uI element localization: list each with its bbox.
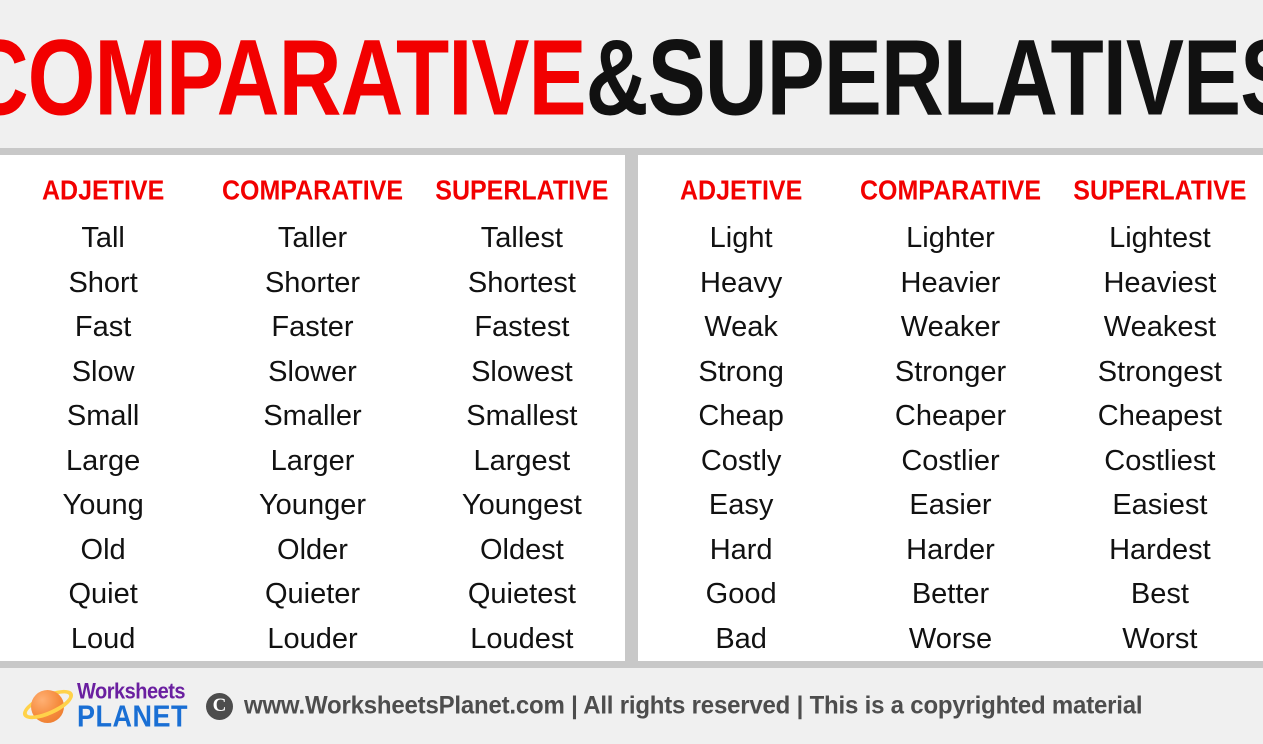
cell-superlative: Costliest — [1057, 439, 1263, 484]
left-header-superlative: SUPERLATIVE — [419, 175, 625, 219]
cell-comparative: Quieter — [206, 572, 419, 617]
cell-superlative: Shortest — [419, 261, 625, 306]
cell-adjective: Fast — [0, 305, 206, 350]
cell-superlative: Fastest — [419, 305, 625, 350]
cell-comparative: Worse — [844, 617, 1057, 662]
table-row: FastFasterFastest — [0, 305, 625, 350]
cell-superlative: Oldest — [419, 528, 625, 573]
planet-icon — [22, 683, 74, 729]
cell-superlative: Lightest — [1057, 216, 1263, 261]
table-row: LoudLouderLoudest — [0, 617, 625, 662]
cell-superlative: Best — [1057, 572, 1263, 617]
cell-superlative: Tallest — [419, 216, 625, 261]
cell-adjective: Strong — [638, 350, 844, 395]
cell-comparative: Louder — [206, 617, 419, 662]
table-row: YoungYoungerYoungest — [0, 483, 625, 528]
cell-adjective: Quiet — [0, 572, 206, 617]
cell-comparative: Heavier — [844, 261, 1057, 306]
page-header: COMPARATIVE&SUPERLATIVES — [0, 0, 1263, 148]
table-row: HardHarderHardest — [638, 528, 1263, 573]
worksheet-page: COMPARATIVE&SUPERLATIVES ADJETIVE COMPAR… — [0, 0, 1263, 744]
page-footer: Worksheets PLANET C www.WorksheetsPlanet… — [0, 668, 1263, 744]
cell-comparative: Younger — [206, 483, 419, 528]
left-panel: ADJETIVE COMPARATIVE SUPERLATIVE TallTal… — [0, 155, 625, 661]
cell-comparative: Older — [206, 528, 419, 573]
table-row: LargeLargerLargest — [0, 439, 625, 484]
logo-text-planet: PLANET — [77, 703, 188, 731]
title-superlatives: SUPERLATIVES — [648, 17, 1263, 138]
table-row: QuietQuieterQuietest — [0, 572, 625, 617]
cell-adjective: Young — [0, 483, 206, 528]
cell-comparative: Shorter — [206, 261, 419, 306]
cell-adjective: Cheap — [638, 394, 844, 439]
table-row: ShortShorterShortest — [0, 261, 625, 306]
cell-comparative: Taller — [206, 216, 419, 261]
cell-superlative: Heaviest — [1057, 261, 1263, 306]
left-header-row: ADJETIVE COMPARATIVE SUPERLATIVE — [0, 177, 625, 216]
cell-superlative: Largest — [419, 439, 625, 484]
right-word-table: ADJETIVE COMPARATIVE SUPERLATIVE LightLi… — [638, 177, 1263, 661]
right-header-adjective: ADJETIVE — [638, 175, 844, 219]
cell-superlative: Easiest — [1057, 483, 1263, 528]
footer-credit-text: www.WorksheetsPlanet.com | All rights re… — [244, 691, 1142, 720]
cell-comparative: Slower — [206, 350, 419, 395]
cell-superlative: Cheapest — [1057, 394, 1263, 439]
cell-superlative: Hardest — [1057, 528, 1263, 573]
cell-adjective: Costly — [638, 439, 844, 484]
table-row: SlowSlowerSlowest — [0, 350, 625, 395]
cell-adjective: Old — [0, 528, 206, 573]
cell-comparative: Weaker — [844, 305, 1057, 350]
table-row: EasyEasierEasiest — [638, 483, 1263, 528]
right-header-row: ADJETIVE COMPARATIVE SUPERLATIVE — [638, 177, 1263, 216]
cell-comparative: Harder — [844, 528, 1057, 573]
table-row: GoodBetterBest — [638, 572, 1263, 617]
worksheets-planet-logo[interactable]: Worksheets PLANET — [22, 683, 188, 729]
cell-comparative: Cheaper — [844, 394, 1057, 439]
right-table-head: ADJETIVE COMPARATIVE SUPERLATIVE — [638, 177, 1263, 216]
cell-comparative: Lighter — [844, 216, 1057, 261]
cell-superlative: Weakest — [1057, 305, 1263, 350]
cell-comparative: Larger — [206, 439, 419, 484]
cell-adjective: Easy — [638, 483, 844, 528]
title-ampersand: & — [586, 17, 648, 138]
logo-wordmark: Worksheets PLANET — [77, 684, 188, 727]
tables-area: ADJETIVE COMPARATIVE SUPERLATIVE TallTal… — [0, 155, 1263, 661]
table-row: OldOlderOldest — [0, 528, 625, 573]
panel-divider — [625, 155, 638, 661]
cell-comparative: Faster — [206, 305, 419, 350]
cell-adjective: Tall — [0, 216, 206, 261]
page-title: COMPARATIVE&SUPERLATIVES — [0, 25, 1263, 130]
table-row: HeavyHeavierHeaviest — [638, 261, 1263, 306]
cell-adjective: Hard — [638, 528, 844, 573]
left-word-table: ADJETIVE COMPARATIVE SUPERLATIVE TallTal… — [0, 177, 625, 661]
table-row: LightLighterLightest — [638, 216, 1263, 261]
table-row: WeakWeakerWeakest — [638, 305, 1263, 350]
table-row: BadWorseWorst — [638, 617, 1263, 662]
cell-adjective: Large — [0, 439, 206, 484]
left-header-adjective: ADJETIVE — [0, 175, 206, 219]
cell-superlative: Worst — [1057, 617, 1263, 662]
left-header-comparative: COMPARATIVE — [206, 175, 419, 219]
table-row: CostlyCostlierCostliest — [638, 439, 1263, 484]
cell-adjective: Heavy — [638, 261, 844, 306]
table-row: SmallSmallerSmallest — [0, 394, 625, 439]
right-header-superlative: SUPERLATIVE — [1057, 175, 1263, 219]
cell-adjective: Good — [638, 572, 844, 617]
left-table-head: ADJETIVE COMPARATIVE SUPERLATIVE — [0, 177, 625, 216]
cell-adjective: Light — [638, 216, 844, 261]
cell-comparative: Better — [844, 572, 1057, 617]
table-row: CheapCheaperCheapest — [638, 394, 1263, 439]
cell-comparative: Easier — [844, 483, 1057, 528]
cell-superlative: Strongest — [1057, 350, 1263, 395]
right-header-comparative: COMPARATIVE — [844, 175, 1057, 219]
cell-adjective: Short — [0, 261, 206, 306]
cell-adjective: Bad — [638, 617, 844, 662]
cell-superlative: Slowest — [419, 350, 625, 395]
cell-comparative: Stronger — [844, 350, 1057, 395]
right-panel: ADJETIVE COMPARATIVE SUPERLATIVE LightLi… — [638, 155, 1263, 661]
cell-comparative: Smaller — [206, 394, 419, 439]
cell-superlative: Loudest — [419, 617, 625, 662]
right-table-body: LightLighterLightest HeavyHeavierHeavies… — [638, 216, 1263, 661]
left-table-body: TallTallerTallest ShortShorterShortest F… — [0, 216, 625, 661]
cell-comparative: Costlier — [844, 439, 1057, 484]
cell-superlative: Smallest — [419, 394, 625, 439]
cell-superlative: Youngest — [419, 483, 625, 528]
title-comparative: COMPARATIVE — [0, 17, 586, 138]
cell-adjective: Weak — [638, 305, 844, 350]
header-divider — [0, 148, 1263, 155]
footer-divider — [0, 661, 1263, 668]
copyright-icon: C — [206, 693, 233, 720]
cell-adjective: Small — [0, 394, 206, 439]
table-row: StrongStrongerStrongest — [638, 350, 1263, 395]
cell-adjective: Slow — [0, 350, 206, 395]
cell-superlative: Quietest — [419, 572, 625, 617]
table-row: TallTallerTallest — [0, 216, 625, 261]
cell-adjective: Loud — [0, 617, 206, 662]
